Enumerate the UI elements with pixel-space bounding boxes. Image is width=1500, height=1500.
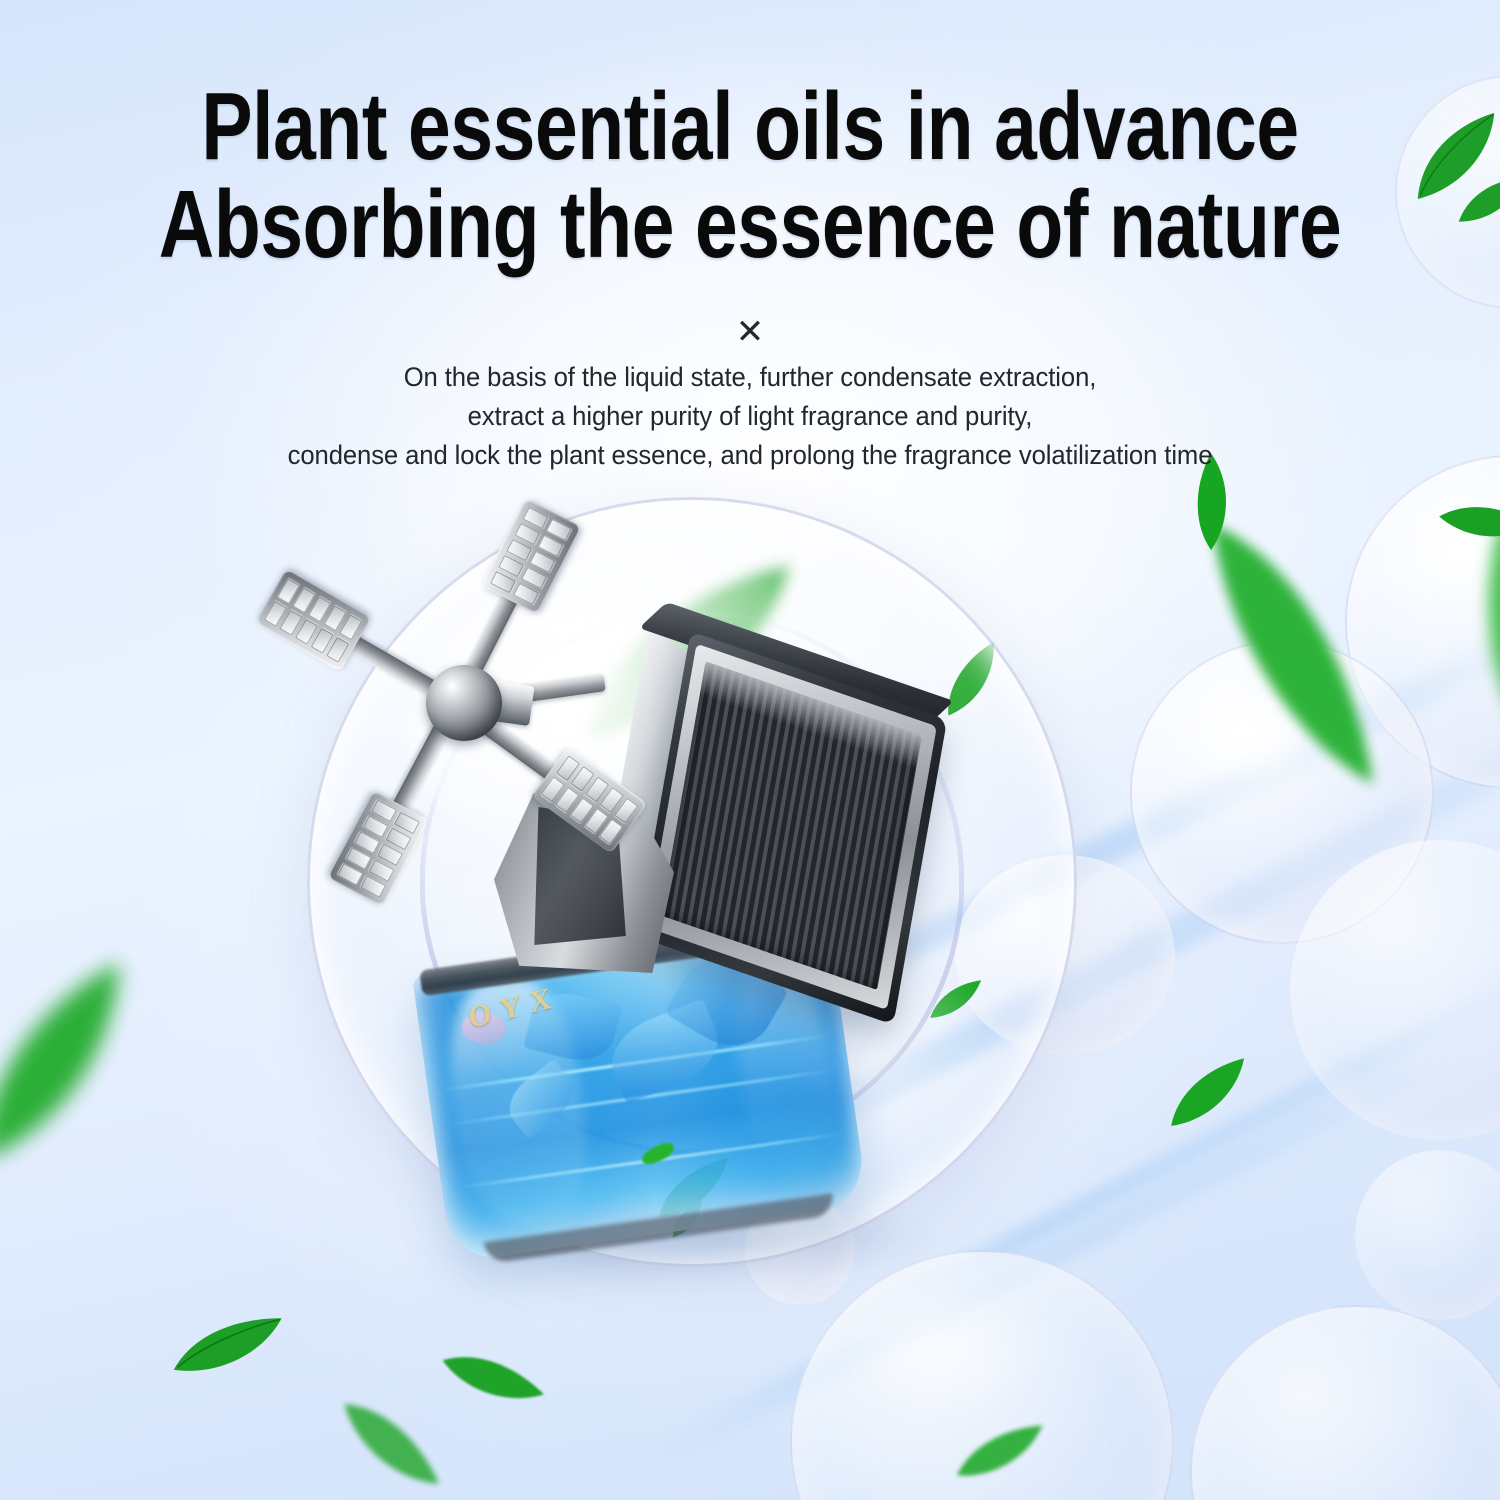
divider-x-icon: ✕ bbox=[0, 315, 1500, 349]
decorative-leaf bbox=[1457, 510, 1500, 769]
description-line-2: extract a higher purity of light fragran… bbox=[38, 397, 1463, 436]
decorative-leaf bbox=[167, 1312, 289, 1380]
blade-window-grid bbox=[255, 569, 371, 672]
light-streak bbox=[1006, 583, 1500, 917]
decorative-leaf bbox=[335, 1380, 444, 1500]
decorative-leaf bbox=[948, 1421, 1051, 1484]
decorative-leaf bbox=[1435, 483, 1500, 561]
background-bubble bbox=[1355, 1150, 1500, 1320]
bottle-green-speck bbox=[639, 1140, 676, 1168]
background-bubble bbox=[1290, 840, 1500, 1140]
background-bubble bbox=[790, 1250, 1174, 1500]
background-bubble bbox=[1345, 455, 1500, 789]
blade-window-grid bbox=[481, 498, 581, 613]
decorative-leaf bbox=[1155, 1052, 1261, 1133]
background-bubble bbox=[1130, 640, 1434, 944]
description-text: On the basis of the liquid state, furthe… bbox=[0, 358, 1500, 475]
description-line-1: On the basis of the liquid state, furthe… bbox=[38, 358, 1463, 397]
product-image: OYX bbox=[390, 545, 1010, 1245]
decorative-leaf bbox=[436, 1329, 548, 1429]
windmill-hub bbox=[426, 665, 502, 741]
headline-line-2: Absorbing the essence of nature bbox=[150, 176, 1350, 274]
page-title: Plant essential oils in advance Absorbin… bbox=[0, 78, 1500, 274]
headline-line-1: Plant essential oils in advance bbox=[150, 78, 1350, 176]
solar-panel-cells bbox=[661, 661, 922, 990]
background-bubble bbox=[1190, 1305, 1500, 1500]
description-line-3: condense and lock the plant essence, and… bbox=[38, 436, 1463, 475]
decorative-leaf bbox=[1191, 495, 1388, 814]
decorative-leaf bbox=[0, 951, 179, 1179]
product-banner-canvas: OYX bbox=[0, 0, 1500, 1500]
product-shadow bbox=[500, 1205, 930, 1275]
